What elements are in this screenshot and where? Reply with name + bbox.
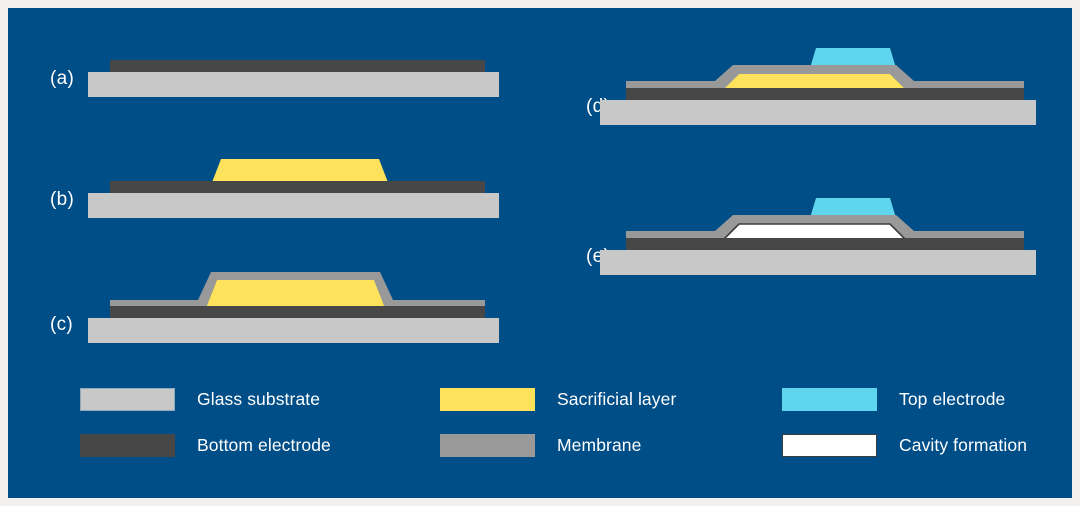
sacrificial-layer-shape [723, 74, 906, 90]
bottom-electrode-layer [110, 60, 485, 72]
panel-e-diagram [538, 176, 1058, 291]
cavity-formation-shape [723, 224, 906, 240]
panel-c-diagram [8, 258, 518, 358]
glass-substrate-layer [600, 100, 1036, 125]
glass-substrate-layer [88, 72, 499, 97]
legend-label-top-electrode: Top electrode [899, 389, 1005, 410]
legend-swatch-top-electrode [782, 388, 877, 411]
legend-item-membrane: Membrane [440, 434, 641, 457]
bottom-electrode-layer [626, 88, 1024, 100]
panel-a-diagram [8, 8, 518, 128]
legend-item-glass-substrate: Glass substrate [80, 388, 320, 411]
legend-item-cavity-formation: Cavity formation [782, 434, 1027, 457]
legend-label-membrane: Membrane [557, 435, 641, 456]
panel-a: (a) [8, 8, 518, 128]
legend-swatch-sacrificial-layer [440, 388, 535, 411]
glass-substrate-layer [88, 318, 499, 343]
panel-e: (e) [538, 176, 1058, 291]
figure-canvas: (a) (b) (c) (d) [8, 8, 1072, 498]
legend-swatch-cavity-formation [782, 434, 877, 457]
panel-c: (c) [8, 258, 518, 358]
legend-label-sacrificial-layer: Sacrificial layer [557, 389, 676, 410]
glass-substrate-layer [600, 250, 1036, 275]
bottom-electrode-layer [110, 306, 485, 318]
glass-substrate-layer [88, 193, 499, 218]
legend-label-bottom-electrode: Bottom electrode [197, 435, 331, 456]
sacrificial-layer-shape [206, 280, 385, 308]
legend-swatch-bottom-electrode [80, 434, 175, 457]
legend-label-cavity-formation: Cavity formation [899, 435, 1027, 456]
legend-swatch-glass-substrate [80, 388, 175, 411]
panel-d: (d) [538, 8, 1058, 138]
bottom-electrode-layer [110, 181, 485, 193]
panel-b: (b) [8, 133, 518, 233]
legend-item-sacrificial-layer: Sacrificial layer [440, 388, 676, 411]
panel-d-diagram [538, 8, 1058, 138]
panel-b-diagram [8, 133, 518, 233]
legend-label-glass-substrate: Glass substrate [197, 389, 320, 410]
legend-item-top-electrode: Top electrode [782, 388, 1005, 411]
legend: Glass substrate Bottom electrode Sacrifi… [80, 388, 1040, 483]
bottom-electrode-layer [626, 238, 1024, 250]
legend-item-bottom-electrode: Bottom electrode [80, 434, 331, 457]
legend-swatch-membrane [440, 434, 535, 457]
